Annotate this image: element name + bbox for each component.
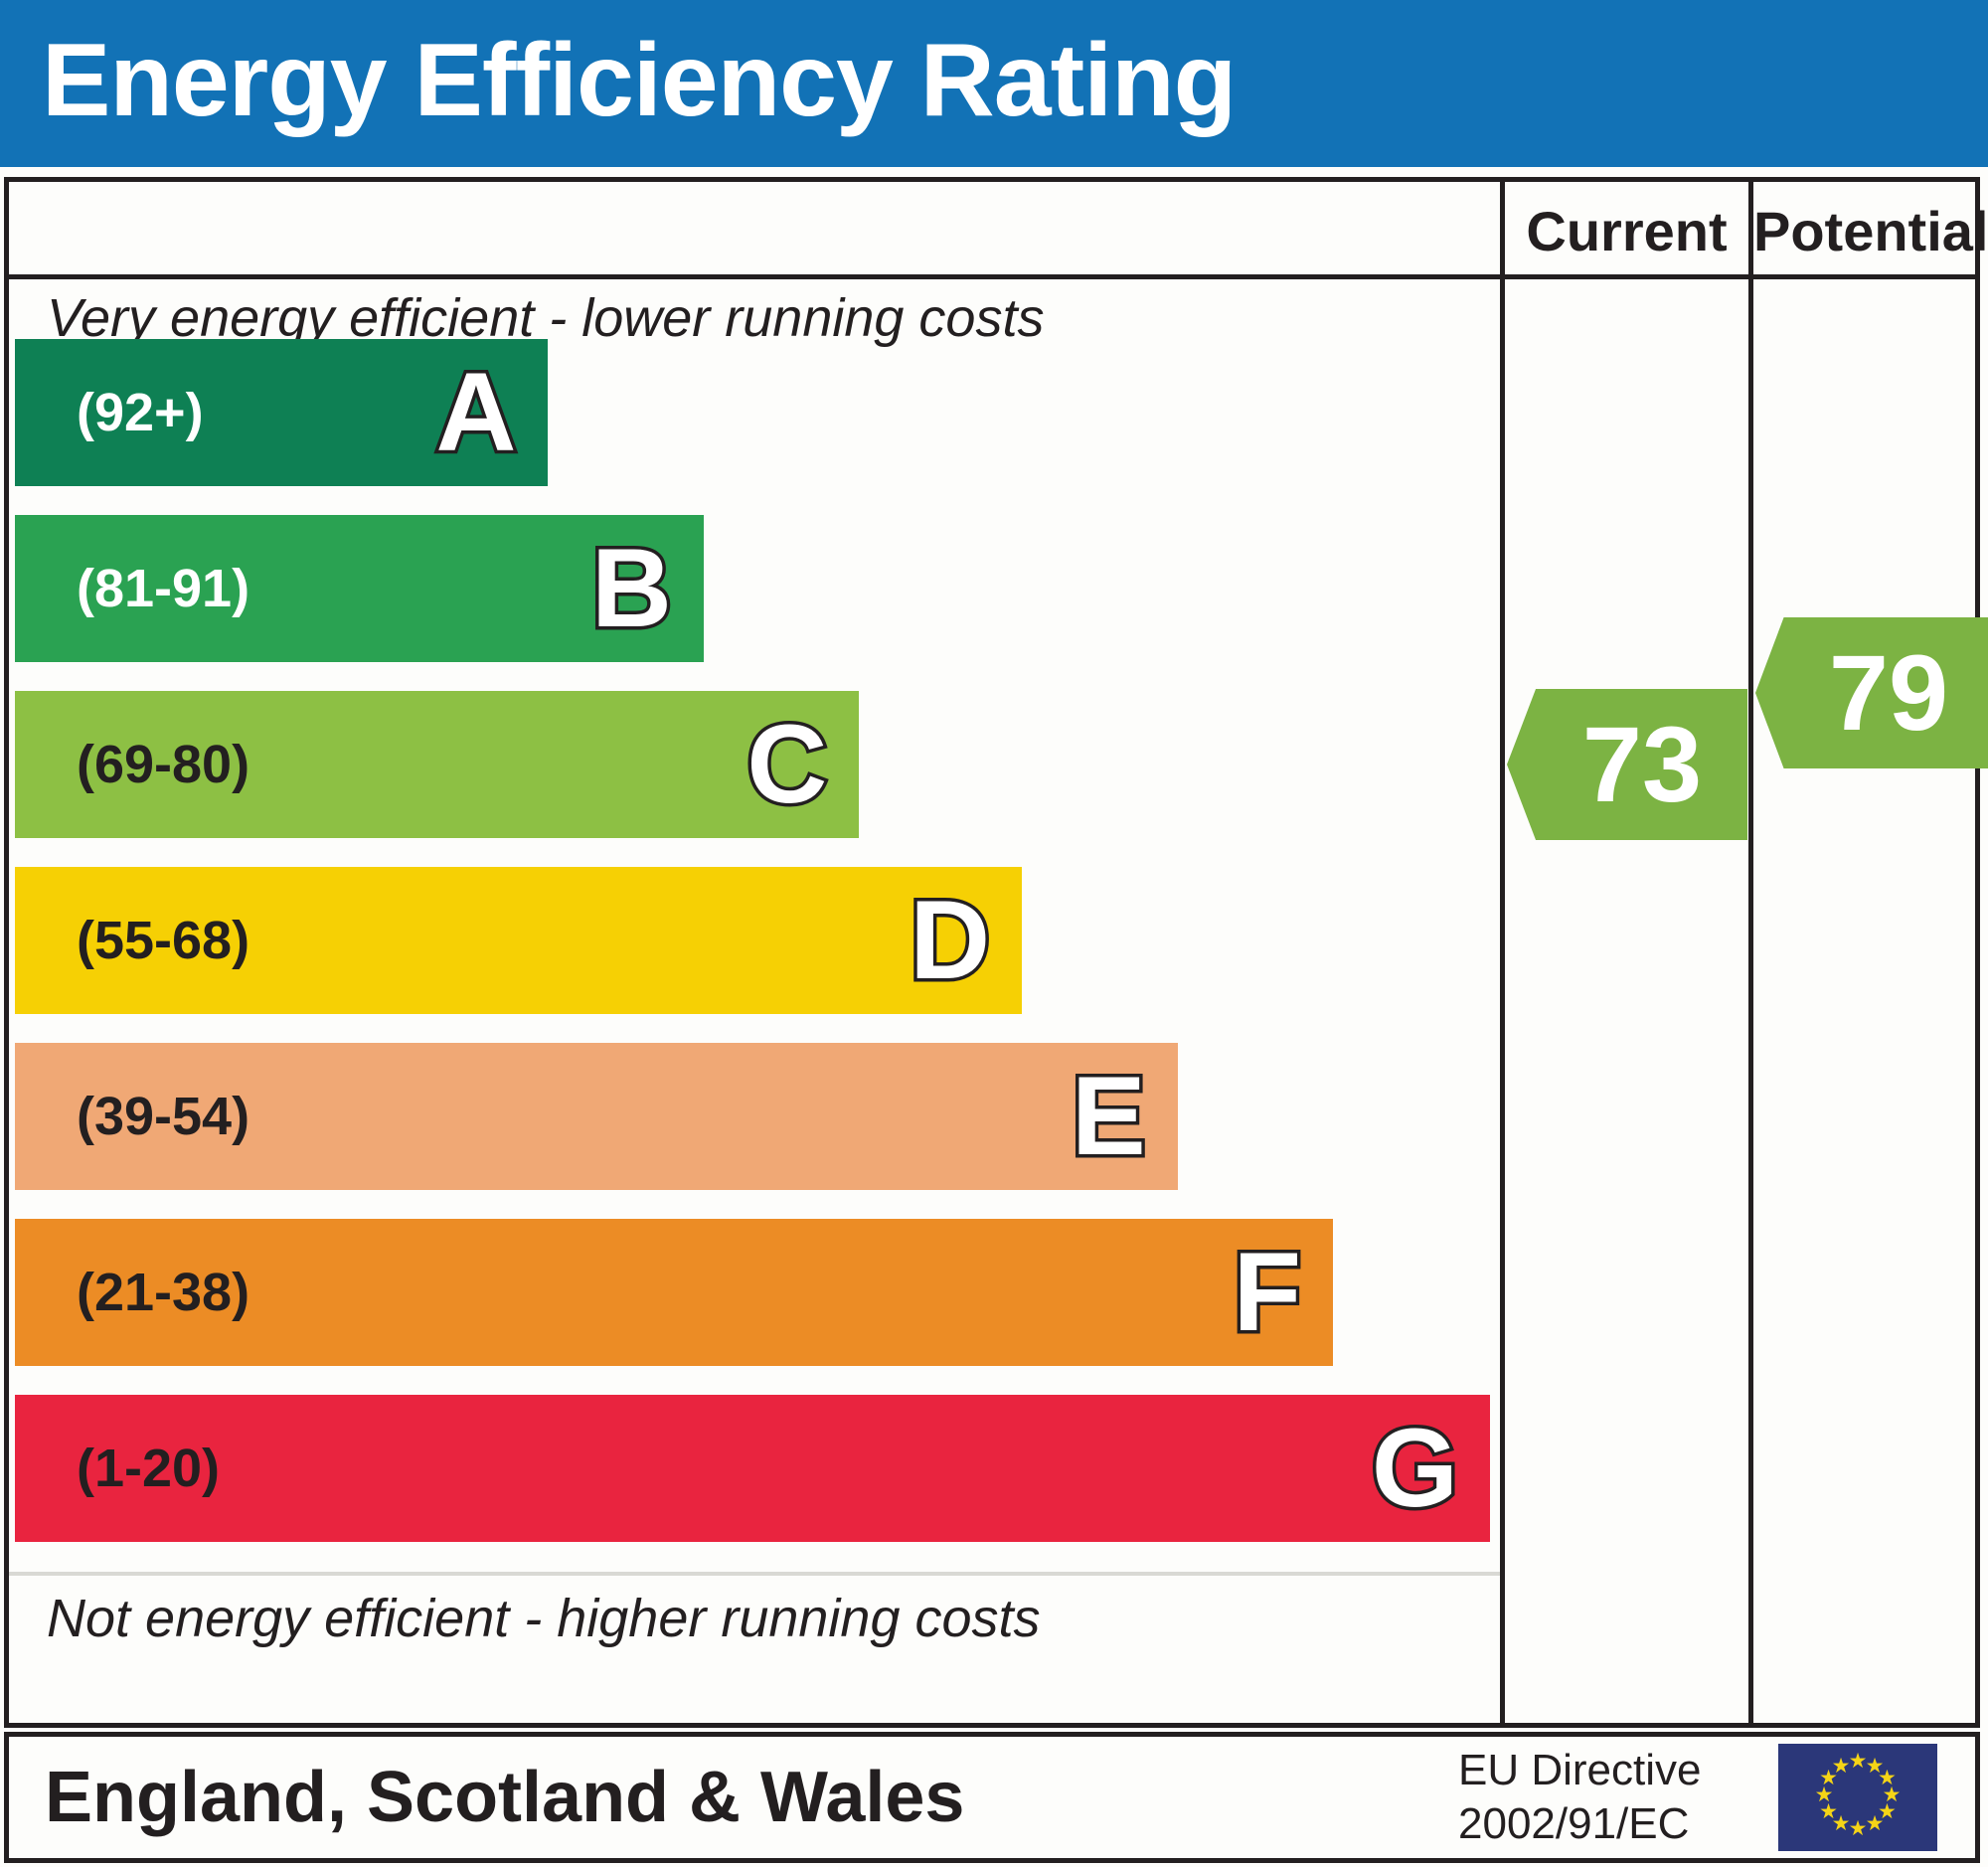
footer-eu-directive: EU Directive 2002/91/EC bbox=[1458, 1744, 1702, 1851]
rating-band-a: (92+)A bbox=[15, 339, 548, 486]
band-letter-d: D bbox=[910, 885, 990, 996]
chart-body: Current Potential Very energy efficient … bbox=[4, 177, 1980, 1728]
band-range-c: (69-80) bbox=[77, 738, 249, 791]
band-range-g: (1-20) bbox=[77, 1442, 220, 1495]
caption-rule-top bbox=[9, 274, 1500, 279]
rating-band-g: (1-20)G bbox=[15, 1395, 1490, 1542]
energy-efficiency-rating-chart: Energy Efficiency Rating Current Potenti… bbox=[0, 0, 1988, 1867]
band-letter-c: C bbox=[746, 709, 827, 820]
footer-bar: England, Scotland & Wales EU Directive 2… bbox=[4, 1732, 1980, 1863]
eu-directive-line-1: EU Directive bbox=[1458, 1744, 1702, 1797]
eu-flag-icon: ★★★★★★★★★★★★ bbox=[1778, 1744, 1937, 1851]
column-header-current: Current bbox=[1505, 196, 1748, 267]
rating-bands: (92+)A(81-91)B(69-80)C(55-68)D(39-54)E(2… bbox=[15, 339, 1496, 1570]
band-range-f: (21-38) bbox=[77, 1266, 249, 1319]
column-divider-right bbox=[1748, 182, 1753, 1723]
current-rating-value: 73 bbox=[1553, 711, 1702, 818]
band-range-a: (92+) bbox=[77, 386, 204, 439]
band-letter-b: B bbox=[591, 533, 672, 644]
column-header-potential: Potential bbox=[1753, 196, 1980, 267]
page-title: Energy Efficiency Rating bbox=[42, 16, 1236, 145]
eu-directive-line-2: 2002/91/EC bbox=[1458, 1797, 1702, 1851]
band-letter-a: A bbox=[436, 357, 517, 468]
rating-band-b: (81-91)B bbox=[15, 515, 704, 662]
band-range-e: (39-54) bbox=[77, 1090, 249, 1143]
potential-rating-value: 79 bbox=[1799, 639, 1948, 747]
rating-band-c: (69-80)C bbox=[15, 691, 859, 838]
band-range-b: (81-91) bbox=[77, 562, 249, 615]
current-rating-arrow: 73 bbox=[1507, 689, 1747, 840]
rating-band-e: (39-54)E bbox=[15, 1043, 1178, 1190]
footer-region-label: England, Scotland & Wales bbox=[45, 1762, 964, 1833]
header-banner: Energy Efficiency Rating bbox=[0, 0, 1988, 167]
band-letter-e: E bbox=[1072, 1061, 1146, 1172]
column-divider-left bbox=[1500, 182, 1505, 1723]
band-letter-g: G bbox=[1372, 1413, 1458, 1524]
caption-not-efficient: Not energy efficient - higher running co… bbox=[47, 1587, 1041, 1650]
band-letter-f: F bbox=[1234, 1237, 1301, 1348]
rating-band-f: (21-38)F bbox=[15, 1219, 1333, 1366]
band-range-d: (55-68) bbox=[77, 914, 249, 967]
potential-rating-arrow: 79 bbox=[1755, 617, 1988, 768]
caption-rule-bottom bbox=[9, 1572, 1500, 1576]
rating-band-d: (55-68)D bbox=[15, 867, 1022, 1014]
column-header-rule bbox=[1500, 274, 1980, 279]
